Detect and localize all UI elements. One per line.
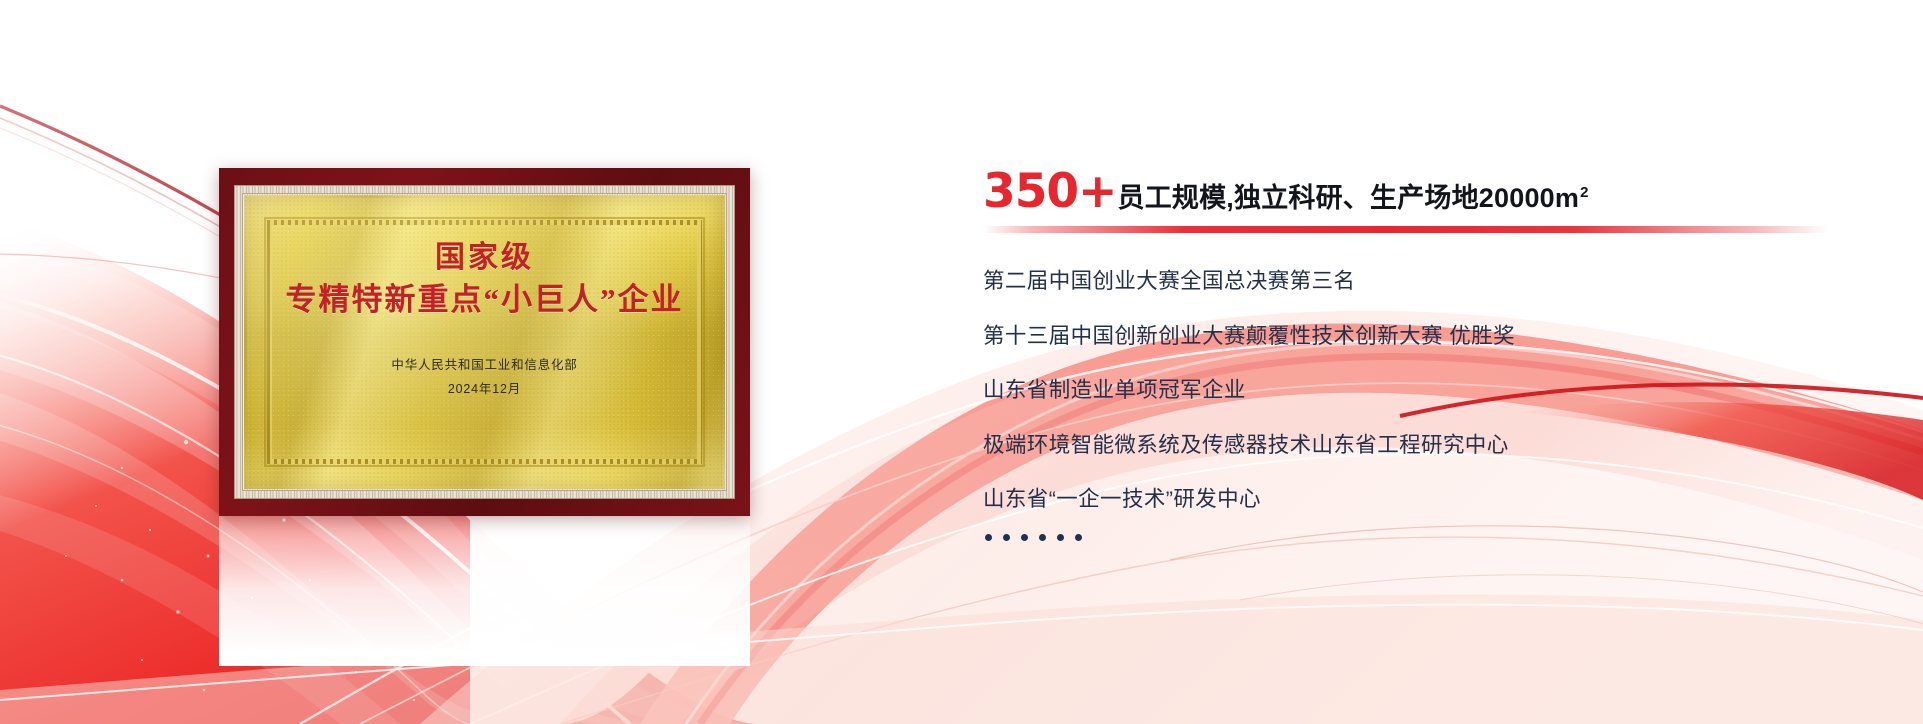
headline: 350+ 员工规模,独立科研、生产场地20000m 2 — [983, 168, 1863, 215]
headline-divider-rule — [983, 226, 1828, 233]
plaque-title-line-1: 国家级 — [435, 238, 534, 279]
plaque-title-line-2: 专精特新重点“小巨人”企业 — [286, 279, 684, 321]
headline-description: 员工规模,独立科研、生产场地20000m — [1118, 185, 1580, 212]
list-item: 极端环境智能微系统及传感器技术山东省工程研究中心 — [983, 435, 1863, 457]
ellipsis-dot — [1075, 534, 1082, 541]
ellipsis-dot — [1057, 534, 1064, 541]
award-plaque: 国家级 专精特新重点“小巨人”企业 中华人民共和国工业和信息化部 2024年12… — [219, 168, 750, 516]
plaque-issue-date: 2024年12月 — [391, 378, 577, 402]
area-unit-superscript: 2 — [1580, 185, 1589, 200]
employee-count-number: 350+ — [983, 168, 1117, 215]
plaque-issuer-block: 中华人民共和国工业和信息化部 2024年12月 — [391, 354, 577, 402]
honor-banner: 国家级 专精特新重点“小巨人”企业 中华人民共和国工业和信息化部 2024年12… — [0, 0, 1923, 724]
ellipsis-dot — [985, 534, 992, 541]
list-item: 第二届中国创业大赛全国总决赛第三名 — [983, 271, 1863, 293]
content-column: 350+ 员工规模,独立科研、生产场地20000m 2 第二届中国创业大赛全国总… — [983, 168, 1863, 541]
list-item: 山东省“一企一技术”研发中心 — [983, 489, 1863, 511]
list-item: 山东省制造业单项冠军企业 — [983, 380, 1863, 402]
ellipsis-dot — [1003, 534, 1010, 541]
plaque-issuer-name: 中华人民共和国工业和信息化部 — [391, 354, 577, 378]
list-item: 第十三届中国创新创业大赛颠覆性技术创新大赛 优胜奖 — [983, 326, 1863, 348]
honor-list: 第二届中国创业大赛全国总决赛第三名 第十三届中国创新创业大赛颠覆性技术创新大赛 … — [983, 271, 1863, 511]
plaque-text-area: 国家级 专精特新重点“小巨人”企业 中华人民共和国工业和信息化部 2024年12… — [247, 198, 722, 486]
ellipsis-dot — [1021, 534, 1028, 541]
ellipsis-dot — [1039, 534, 1046, 541]
ellipsis-dots-icon — [985, 534, 1863, 541]
plaque-frame: 国家级 专精特新重点“小巨人”企业 中华人民共和国工业和信息化部 2024年12… — [219, 168, 750, 516]
